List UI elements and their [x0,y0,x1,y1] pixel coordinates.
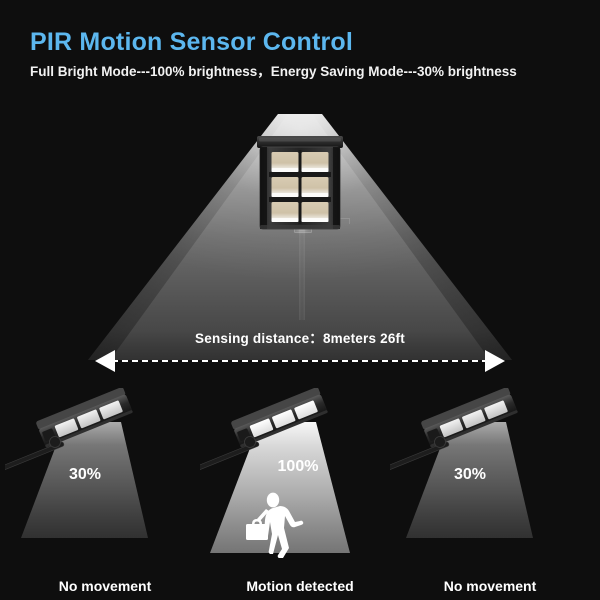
mode-card-right: 30% No movement [390,388,590,600]
brightness-percent-right: 30% [390,466,550,484]
mode-caption-center: Motion detected [200,578,400,594]
led-street-lamp-front-view [251,132,349,232]
dim-beam-left [5,388,205,588]
mode-card-center: 100% Motion detected [200,388,400,600]
product-infographic: PIR Motion Sensor Control Full Bright Mo… [0,0,600,600]
brightness-percent-left: 30% [5,466,165,484]
page-subtitle: Full Bright Mode---100% brightness，Energ… [30,60,517,80]
sensing-distance-label: Sensing distance：8meters 26ft [0,327,600,347]
mode-caption-left: No movement [5,578,205,594]
bright-beam-center [200,388,400,588]
brightness-percent-center: 100% [218,458,378,476]
mode-comparison-row: 30% No movement [0,388,600,600]
dim-beam-right [390,388,590,588]
dashed-measure-line [112,360,488,362]
lamp-pole [299,228,305,320]
page-title: PIR Motion Sensor Control [30,28,353,57]
mode-card-left: 30% No movement [5,388,205,600]
mode-caption-right: No movement [390,578,590,594]
arrow-right-icon [485,350,505,372]
sensing-distance-measure [0,350,600,372]
